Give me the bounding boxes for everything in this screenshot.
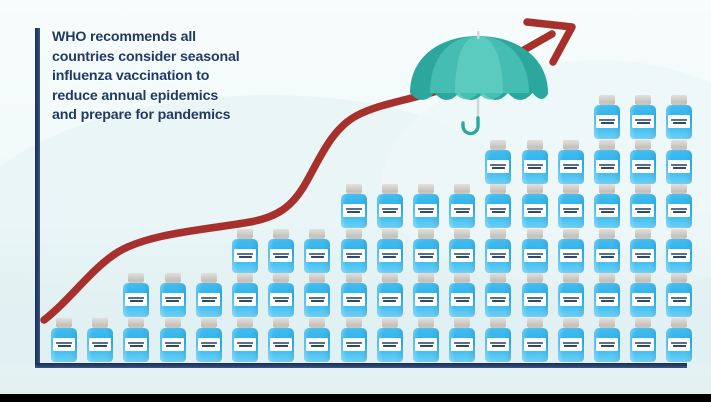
vial-label — [306, 293, 328, 306]
vial-label — [343, 204, 365, 217]
vaccine-vial-icon — [447, 273, 477, 317]
vial-label — [379, 204, 401, 217]
vial-label — [560, 293, 582, 306]
vaccine-vial-icon — [302, 318, 332, 362]
vaccine-vial-icon — [664, 184, 694, 228]
vaccine-vial-icon — [556, 229, 586, 273]
vial-label — [379, 293, 401, 306]
vial-label — [596, 293, 618, 306]
vial-label — [632, 249, 654, 262]
umbrella-icon — [405, 30, 553, 142]
vial-label — [343, 293, 365, 306]
vaccine-vial-icon — [339, 273, 369, 317]
vaccine-vial-icon — [230, 318, 260, 362]
vaccine-vial-icon — [556, 184, 586, 228]
vial-label — [560, 249, 582, 262]
vaccine-vial-icon — [520, 140, 550, 184]
vaccine-vial-icon — [592, 95, 622, 139]
vial-label — [632, 204, 654, 217]
vial-label — [668, 249, 690, 262]
vaccine-vial-icon — [483, 318, 513, 362]
vial-label — [379, 338, 401, 351]
vial-label — [487, 293, 509, 306]
vaccine-vial-icon — [556, 273, 586, 317]
vial-label — [343, 338, 365, 351]
vial-label — [234, 338, 256, 351]
vial-label — [632, 293, 654, 306]
vaccine-vial-icon — [628, 140, 658, 184]
vial-label — [632, 160, 654, 173]
vial-label — [596, 249, 618, 262]
vaccine-vial-icon — [302, 229, 332, 273]
vial-label — [451, 293, 473, 306]
vaccine-vial-icon — [49, 318, 79, 362]
vial-label — [234, 249, 256, 262]
vaccine-vial-icon — [302, 273, 332, 317]
vaccine-vial-icon — [339, 229, 369, 273]
vaccine-vial-icon — [520, 273, 550, 317]
vaccine-vial-icon — [592, 140, 622, 184]
vial-label — [89, 338, 111, 351]
vaccine-vial-icon — [520, 229, 550, 273]
vial-label — [125, 293, 147, 306]
vaccine-vial-icon — [664, 318, 694, 362]
infographic-canvas: WHO recommends all countries consider se… — [0, 0, 711, 402]
vaccine-vial-icon — [556, 318, 586, 362]
vial-label — [596, 338, 618, 351]
vial-label — [306, 338, 328, 351]
vial-label — [415, 249, 437, 262]
vaccine-vial-icon — [628, 273, 658, 317]
vial-label — [125, 338, 147, 351]
vial-label — [415, 204, 437, 217]
letterbox-bar-bottom — [0, 394, 711, 402]
vaccine-vial-icon — [483, 184, 513, 228]
vial-label — [632, 338, 654, 351]
vaccine-vial-icon — [628, 184, 658, 228]
vaccine-vial-icon — [447, 184, 477, 228]
vaccine-vial-icon — [375, 273, 405, 317]
vaccine-vial-pictogram-grid — [0, 0, 711, 402]
vaccine-vial-icon — [339, 184, 369, 228]
vial-label — [487, 160, 509, 173]
vaccine-vial-icon — [266, 273, 296, 317]
vial-label — [524, 338, 546, 351]
vial-label — [306, 249, 328, 262]
vaccine-vial-icon — [447, 229, 477, 273]
vaccine-vial-icon — [592, 273, 622, 317]
vaccine-vial-icon — [556, 140, 586, 184]
vaccine-vial-icon — [592, 229, 622, 273]
vaccine-vial-icon — [266, 229, 296, 273]
vial-label — [596, 160, 618, 173]
vaccine-vial-icon — [375, 229, 405, 273]
vaccine-vial-icon — [592, 184, 622, 228]
vial-label — [415, 338, 437, 351]
vial-label — [451, 338, 473, 351]
vial-label — [560, 338, 582, 351]
vaccine-vial-icon — [121, 318, 151, 362]
vial-label — [270, 338, 292, 351]
vial-label — [524, 293, 546, 306]
vaccine-vial-icon — [664, 95, 694, 139]
vial-label — [415, 293, 437, 306]
vial-label — [668, 338, 690, 351]
vaccine-vial-icon — [664, 273, 694, 317]
vaccine-vial-icon — [411, 184, 441, 228]
vial-label — [524, 249, 546, 262]
vaccine-vial-icon — [375, 318, 405, 362]
vial-label — [668, 293, 690, 306]
vial-label — [270, 293, 292, 306]
vial-label — [162, 293, 184, 306]
vaccine-vial-icon — [411, 229, 441, 273]
vaccine-vial-icon — [411, 318, 441, 362]
vaccine-vial-icon — [85, 318, 115, 362]
vaccine-vial-icon — [266, 318, 296, 362]
vial-label — [524, 160, 546, 173]
vial-label — [198, 293, 220, 306]
vial-label — [234, 293, 256, 306]
vaccine-vial-icon — [483, 273, 513, 317]
vial-label — [596, 204, 618, 217]
vaccine-vial-icon — [483, 229, 513, 273]
vial-label — [343, 249, 365, 262]
vaccine-vial-icon — [628, 318, 658, 362]
vaccine-vial-icon — [121, 273, 151, 317]
vial-label — [198, 338, 220, 351]
vaccine-vial-icon — [411, 273, 441, 317]
vaccine-vial-icon — [230, 229, 260, 273]
vial-label — [596, 115, 618, 128]
vaccine-vial-icon — [375, 184, 405, 228]
vaccine-vial-icon — [230, 273, 260, 317]
vial-label — [487, 204, 509, 217]
vaccine-vial-icon — [158, 273, 188, 317]
vaccine-vial-icon — [628, 229, 658, 273]
vial-label — [560, 160, 582, 173]
vial-label — [379, 249, 401, 262]
vaccine-vial-icon — [158, 318, 188, 362]
vial-label — [668, 204, 690, 217]
vial-label — [487, 249, 509, 262]
vaccine-vial-icon — [483, 140, 513, 184]
vial-label — [162, 338, 184, 351]
vial-label — [668, 115, 690, 128]
vial-label — [53, 338, 75, 351]
vial-label — [451, 204, 473, 217]
vaccine-vial-icon — [592, 318, 622, 362]
vial-label — [524, 204, 546, 217]
vaccine-vial-icon — [447, 318, 477, 362]
vaccine-vial-icon — [664, 140, 694, 184]
vial-label — [270, 249, 292, 262]
vaccine-vial-icon — [520, 318, 550, 362]
vaccine-vial-icon — [194, 273, 224, 317]
vial-label — [668, 160, 690, 173]
vaccine-vial-icon — [194, 318, 224, 362]
vial-label — [451, 249, 473, 262]
vial-label — [560, 204, 582, 217]
vaccine-vial-icon — [628, 95, 658, 139]
vaccine-vial-icon — [664, 229, 694, 273]
vaccine-vial-icon — [339, 318, 369, 362]
vial-label — [487, 338, 509, 351]
vial-label — [632, 115, 654, 128]
vaccine-vial-icon — [520, 184, 550, 228]
